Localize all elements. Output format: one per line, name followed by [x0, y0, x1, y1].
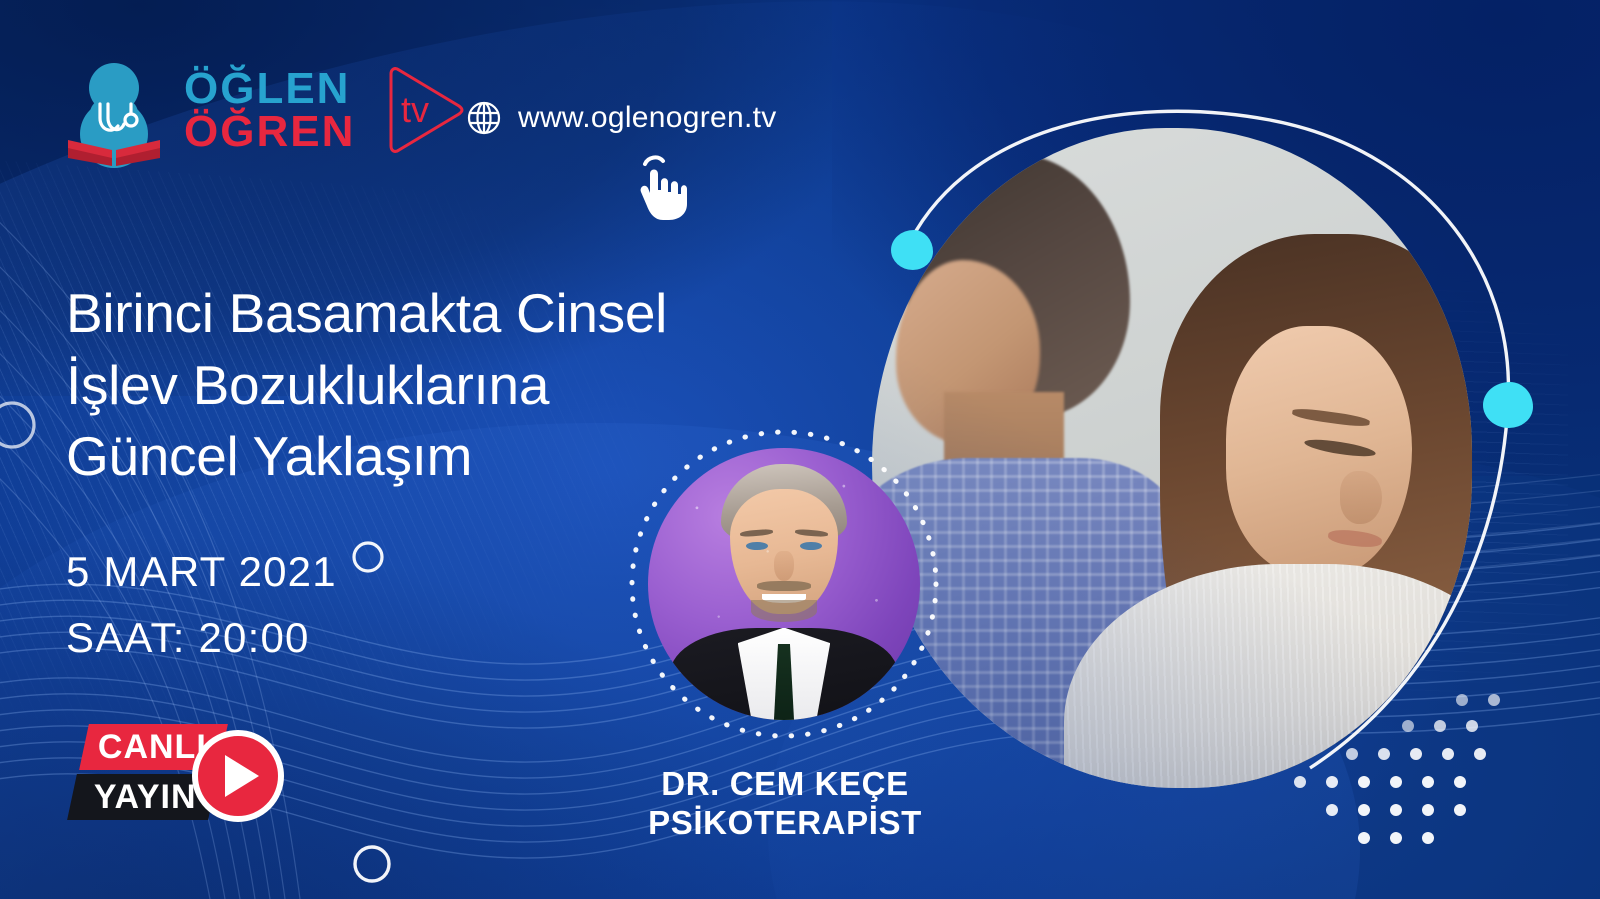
event-date: 5 MART 2021	[66, 548, 337, 596]
speaker-suit	[670, 628, 898, 720]
speaker-smile	[762, 594, 806, 603]
live-badge-bottom-label: YAYIN	[94, 778, 197, 817]
tv-play-button-icon[interactable]: tv	[379, 64, 469, 156]
website-url-text[interactable]: www.oglenogren.tv	[518, 101, 777, 135]
speaker-name-text: DR. CEM KEÇE	[560, 765, 1010, 804]
speaker-photo	[648, 448, 920, 720]
webinar-promo-banner: ÖĞLEN ÖĞREN tv www.oglenogren.tv Birinci…	[0, 0, 1600, 899]
live-broadcast-badge[interactable]: CANLI YAYIN	[72, 722, 282, 832]
live-play-button[interactable]	[192, 730, 284, 822]
brand-logo[interactable]: ÖĞLEN ÖĞREN tv	[62, 48, 469, 172]
speaker-credits: DR. CEM KEÇE PSİKOTERAPİST	[560, 765, 1010, 843]
speaker-nose	[774, 551, 793, 581]
doctor-with-book-icon	[62, 48, 166, 172]
speaker-tie	[770, 644, 797, 720]
play-triangle-icon	[225, 755, 259, 797]
globe-icon	[466, 100, 502, 136]
event-title-line2: İşlev Bozukluklarına	[66, 350, 856, 422]
speaker-face	[730, 489, 839, 614]
speaker-beard	[751, 600, 816, 622]
speaker-shirt	[738, 628, 830, 720]
website-url-row[interactable]: www.oglenogren.tv	[466, 100, 777, 136]
event-time: SAAT: 20:00	[66, 614, 310, 662]
brand-name-line2: ÖĞREN	[184, 110, 355, 153]
speaker-moustache	[757, 581, 811, 591]
brand-name-line1: ÖĞLEN	[184, 67, 355, 110]
live-badge-top-label: CANLI	[98, 728, 207, 767]
pointing-hand-cursor-icon	[625, 148, 701, 224]
cyan-blob-left	[891, 230, 933, 270]
svg-text:tv: tv	[401, 89, 429, 130]
brand-wordmark: ÖĞLEN ÖĞREN	[184, 67, 355, 153]
speaker-eyebrow-right	[795, 528, 828, 537]
speaker-portrait	[648, 448, 920, 720]
event-title-line1: Birinci Basamakta Cinsel	[66, 278, 856, 350]
speaker-title-text: PSİKOTERAPİST	[560, 804, 1010, 843]
speaker-eye-left	[746, 542, 768, 550]
speaker-eyebrow-left	[740, 528, 773, 537]
cyan-blob-right	[1483, 382, 1533, 428]
speaker-eye-right	[800, 542, 822, 550]
speaker-hair	[721, 464, 846, 546]
